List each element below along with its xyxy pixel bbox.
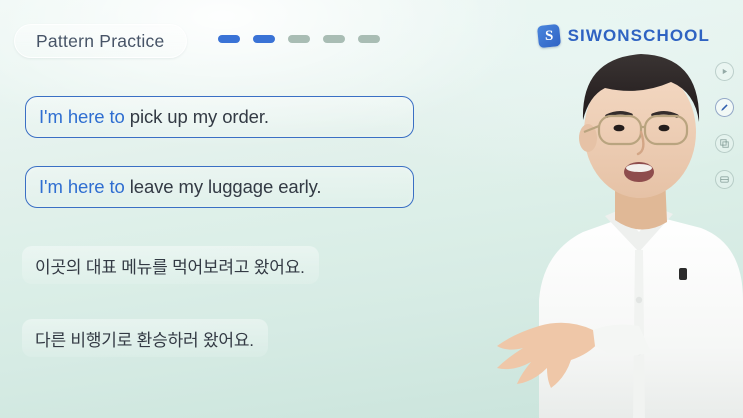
siwonschool-badge-icon: S bbox=[536, 24, 560, 48]
side-toolbar bbox=[709, 62, 739, 189]
practice-content: I'm here to pick up my order. I'm here t… bbox=[0, 96, 440, 357]
copy-icon[interactable] bbox=[715, 134, 734, 153]
english-sentence-text-2: I'm here to leave my luggage early. bbox=[39, 176, 321, 198]
progress-dot-3[interactable] bbox=[288, 35, 310, 43]
korean-sentence-text-1: 이곳의 대표 메뉴를 먹어보려고 왔어요. bbox=[35, 253, 305, 278]
chapter-label-text: Pattern Practice bbox=[36, 31, 165, 52]
progress-dot-2[interactable] bbox=[253, 35, 275, 43]
note-icon[interactable] bbox=[715, 170, 734, 189]
pattern-rest-2: leave my luggage early. bbox=[125, 176, 322, 197]
brand-badge-letter: S bbox=[544, 29, 552, 44]
brand-logo: S SIWONSCHOOL bbox=[538, 25, 710, 47]
english-sentence-row-2[interactable]: I'm here to leave my luggage early. bbox=[25, 166, 414, 208]
lesson-slide: Pattern Practice S SIWONSCHOOL bbox=[0, 0, 743, 418]
korean-sentence-text-2: 다른 비행기로 환승하러 왔어요. bbox=[35, 326, 254, 351]
pen-icon[interactable] bbox=[715, 98, 734, 117]
progress-indicator bbox=[218, 35, 380, 43]
chapter-label-pill: Pattern Practice bbox=[14, 24, 187, 58]
pattern-highlight-2: I'm here to bbox=[39, 176, 125, 197]
progress-dot-5[interactable] bbox=[358, 35, 380, 43]
pattern-highlight-1: I'm here to bbox=[39, 106, 125, 127]
play-circle-icon[interactable] bbox=[715, 62, 734, 81]
progress-dot-4[interactable] bbox=[323, 35, 345, 43]
pattern-rest-1: pick up my order. bbox=[125, 106, 269, 127]
progress-dot-1[interactable] bbox=[218, 35, 240, 43]
english-sentence-row-1[interactable]: I'm here to pick up my order. bbox=[25, 96, 414, 138]
korean-sentence-row-2[interactable]: 다른 비행기로 환승하러 왔어요. bbox=[22, 319, 268, 357]
slide-header: Pattern Practice S SIWONSCHOOL bbox=[0, 0, 743, 70]
english-sentence-text-1: I'm here to pick up my order. bbox=[39, 106, 269, 128]
korean-sentence-row-1[interactable]: 이곳의 대표 메뉴를 먹어보려고 왔어요. bbox=[22, 246, 319, 284]
brand-name-text: SIWONSCHOOL bbox=[568, 26, 710, 46]
